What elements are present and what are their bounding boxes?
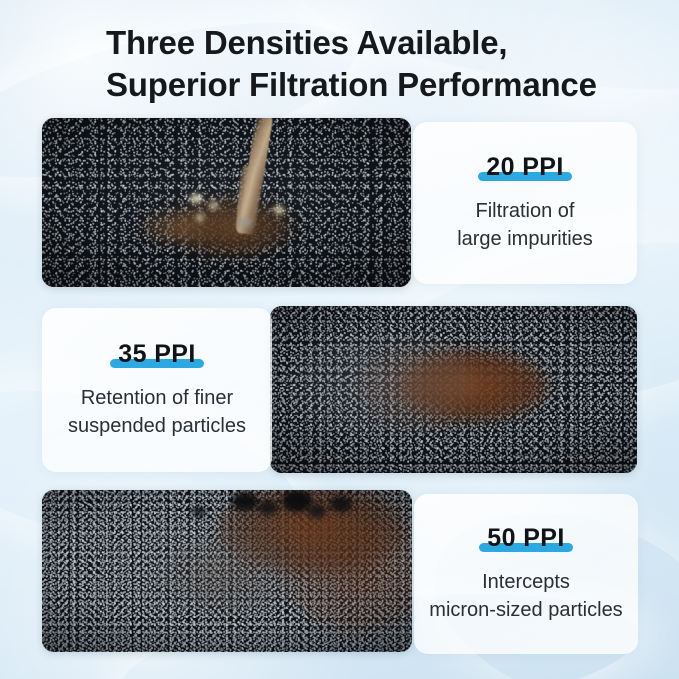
density-description: Retention of finer suspended particles [68, 385, 246, 440]
foam-photo-50ppi [42, 490, 412, 652]
ppi-badge-50: 50 PPI [487, 524, 564, 553]
photo-vignette [42, 490, 412, 652]
density-card-50ppi: 50 PPI Intercepts micron-sized particles [414, 494, 638, 654]
density-description: Intercepts micron-sized particles [429, 569, 622, 624]
ppi-label: 50 PPI [487, 524, 564, 552]
ppi-badge-35: 35 PPI [118, 340, 195, 369]
ppi-label: 35 PPI [118, 340, 195, 368]
ppi-label: 20 PPI [486, 153, 563, 181]
infographic-poster: Three Densities Available, Superior Filt… [0, 0, 679, 679]
foam-photo-20ppi [42, 118, 411, 287]
page-title: Three Densities Available, Superior Filt… [106, 22, 646, 106]
density-card-35ppi: 35 PPI Retention of finer suspended part… [42, 308, 272, 472]
photo-vignette [270, 306, 637, 473]
foam-photo-35ppi [270, 306, 637, 473]
density-description: Filtration of large impurities [457, 198, 593, 253]
photo-vignette [42, 118, 411, 287]
density-card-20ppi: 20 PPI Filtration of large impurities [413, 122, 637, 284]
ppi-badge-20: 20 PPI [486, 153, 563, 182]
